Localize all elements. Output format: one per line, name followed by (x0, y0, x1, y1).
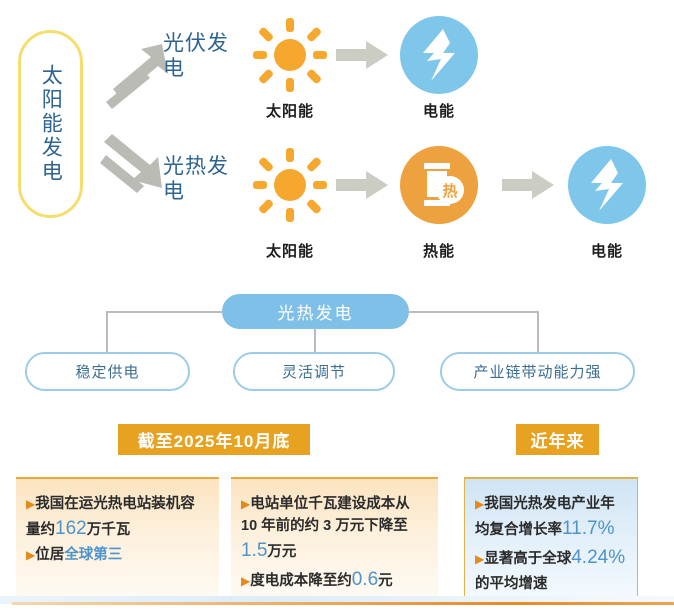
stat-line: ▶显著高于全球4.24%的平均增速 (475, 544, 627, 595)
node-label-solar-1: 太阳能 (250, 100, 330, 121)
stat-panel-growth: ▶我国光热发电产业年均复合增长率11.7%▶显著高于全球4.24%的平均增速 (464, 477, 638, 602)
stat-text-num: 11.7% (562, 518, 614, 539)
stat-panel-growth-lines: ▶我国光热发电产业年均复合增长率11.7%▶显著高于全球4.24%的平均增速 (475, 493, 627, 595)
tree-connector-right-h (408, 311, 538, 313)
tree-node-stable-supply: 稳定供电 (25, 352, 190, 391)
tree-node-flexible-regulation: 灵活调节 (233, 352, 395, 391)
bullet-triangle-icon: ▶ (475, 497, 484, 511)
tree-connector-right-v (537, 311, 539, 353)
tree-connector-left-v (106, 311, 108, 353)
source-pill-label: 太阳能发电 (39, 64, 63, 184)
tree-node-industry-chain: 产业链带动能力强 (440, 352, 635, 391)
lightning-bolt-icon-2 (568, 146, 646, 224)
stat-text-normal: 万元 (267, 544, 296, 560)
sun-icon (253, 18, 327, 92)
node-label-electric-2: 电能 (568, 240, 646, 261)
stat-panel-capacity-lines: ▶我国在运光热电站装机容量约162万千瓦▶位居全球第三 (26, 493, 209, 566)
node-label-electric-1: 电能 (400, 100, 478, 121)
stat-text-normal: 万千瓦 (87, 522, 131, 538)
infographic-canvas: 太阳能发电 光伏发电 光热发电 (0, 0, 674, 610)
stat-text-normal: 显著高于全球 (484, 551, 571, 567)
stat-panel-cost: ▶电站单位千瓦建设成本从 10 年前的约 3 万元下降至1.5万元▶度电成本降至… (231, 477, 438, 596)
tree-node-label-2: 产业链带动能力强 (473, 361, 601, 382)
tree-connector-left-h (107, 311, 223, 313)
bullet-triangle-icon: ▶ (26, 548, 35, 562)
node-label-solar-2: 太阳能 (250, 240, 330, 261)
banner-as-of-date: 截至2025年10月底 (118, 424, 310, 455)
banner-as-of-date-label: 截至2025年10月底 (138, 427, 291, 452)
stat-line: ▶我国光热发电产业年均复合增长率11.7% (475, 493, 627, 544)
tree-connector-mid-v (314, 328, 316, 353)
tree-node-label-0: 稳定供电 (75, 361, 139, 382)
stat-text-num: 1.5 (241, 540, 267, 561)
stat-line: ▶度电成本降至约0.6元 (241, 566, 428, 595)
stat-text-normal: 度电成本降至约 (250, 573, 352, 589)
footer-rule (12, 602, 674, 605)
stat-line: ▶我国在运光热电站装机容量约162万千瓦 (26, 493, 209, 544)
branch-label-pv-text: 光伏发电 (163, 32, 229, 80)
tree-root-node: 光热发电 (222, 294, 409, 329)
stat-text-num: 0.6 (352, 569, 378, 590)
branch-label-pv: 光伏发电 (163, 32, 233, 82)
tree-node-label-1: 灵活调节 (282, 361, 346, 382)
stat-panel-capacity: ▶我国在运光热电站装机容量约162万千瓦▶位居全球第三 (16, 477, 219, 596)
stat-text-num: 4.24% (571, 547, 625, 568)
stat-line: ▶位居全球第三 (26, 544, 209, 566)
arrow-right-icon-2 (336, 170, 388, 205)
bullet-triangle-icon: ▶ (241, 497, 250, 511)
bullet-triangle-icon: ▶ (241, 574, 250, 588)
bullet-triangle-icon: ▶ (475, 552, 484, 566)
branch-label-csp: 光热发电 (163, 155, 233, 205)
lightning-bolt-icon-1 (400, 16, 478, 94)
stat-text-hl: 全球第三 (64, 547, 122, 563)
stat-text-normal: 电站单位千瓦建设成本从 10 年前的约 3 万元下降至 (241, 496, 410, 534)
banner-recent-years: 近年来 (516, 424, 599, 455)
stat-text-normal: 位居 (35, 547, 64, 563)
stat-text-normal: 元 (378, 573, 393, 589)
tree-root-label: 光热发电 (278, 299, 354, 324)
arrow-right-icon-1 (336, 40, 388, 75)
stat-text-normal: 的平均增速 (475, 576, 548, 592)
svg-text:热: 热 (442, 182, 457, 200)
arrow-right-icon-3 (502, 170, 554, 205)
bullet-triangle-icon: ▶ (26, 497, 35, 511)
banner-recent-years-label: 近年来 (531, 427, 585, 452)
node-label-heat: 热能 (400, 240, 478, 261)
stat-panel-cost-lines: ▶电站单位千瓦建设成本从 10 年前的约 3 万元下降至1.5万元▶度电成本降至… (241, 493, 428, 595)
stat-text-num: 162 (55, 518, 87, 539)
heat-storage-icon: 热 (400, 146, 478, 224)
source-pill: 太阳能发电 (18, 30, 83, 218)
stat-line: ▶电站单位千瓦建设成本从 10 年前的约 3 万元下降至1.5万元 (241, 493, 428, 566)
branch-label-csp-text: 光热发电 (163, 155, 229, 203)
sun-icon-2 (253, 148, 327, 222)
